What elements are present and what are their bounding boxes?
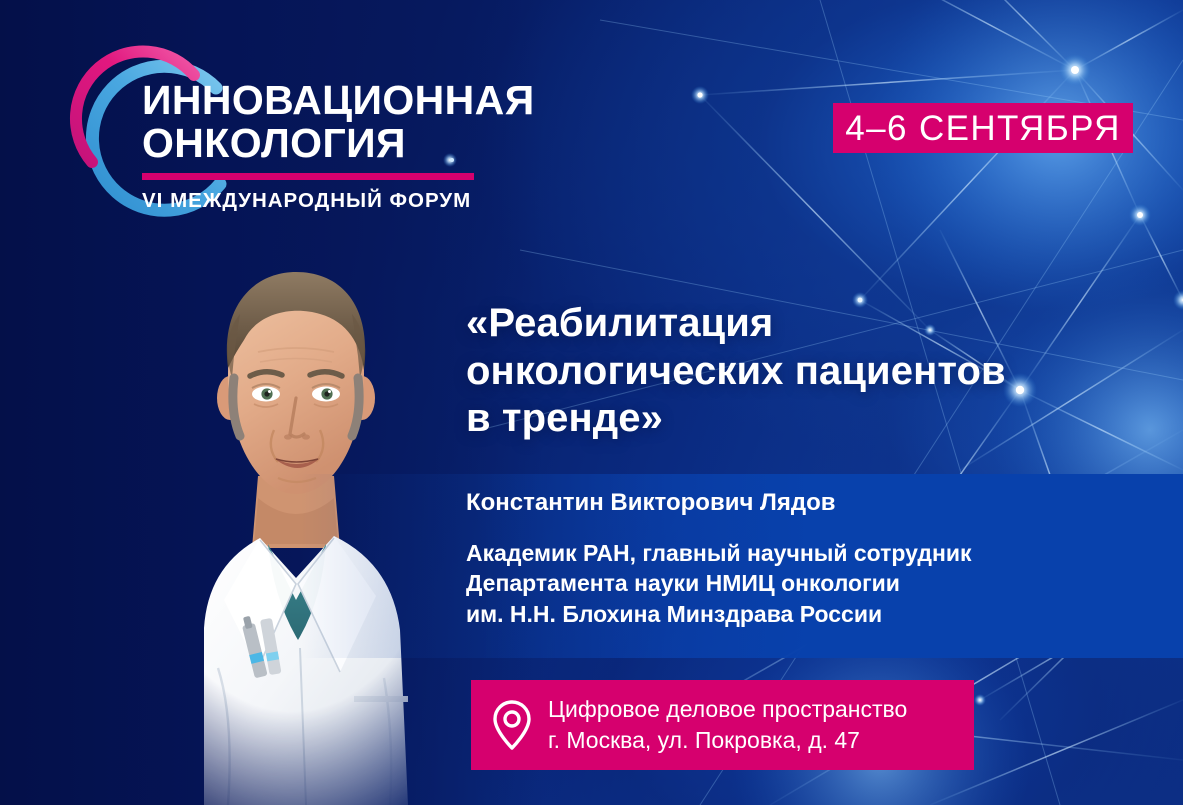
venue-bar: Цифровое деловое пространство г. Москва,…: [471, 680, 974, 770]
logo-divider-rule: [142, 173, 474, 180]
title-line-2: онкологических пациентов: [466, 348, 1126, 396]
presentation-title: «Реабилитация онкологических пациентов в…: [466, 300, 1126, 443]
speaker-role-line-1: Академик РАН, главный научный сотрудник: [466, 538, 1146, 569]
title-line-3: в тренде»: [466, 395, 1126, 443]
venue-address: Цифровое деловое пространство г. Москва,…: [548, 694, 907, 755]
event-promo-poster: ИННОВАЦИОННАЯ ОНКОЛОГИЯ VI МЕЖДУНАРОДНЫЙ…: [0, 0, 1183, 805]
event-date-text: 4–6 СЕНТЯБРЯ: [845, 111, 1121, 146]
speaker-role: Академик РАН, главный научный сотрудник …: [466, 538, 1146, 630]
venue-line-1: Цифровое деловое пространство: [548, 694, 907, 725]
logo-subtitle: VI МЕЖДУНАРОДНЫЙ ФОРУМ: [142, 189, 502, 213]
forum-logo: ИННОВАЦИОННАЯ ОНКОЛОГИЯ VI МЕЖДУНАРОДНЫЙ…: [58, 44, 498, 244]
venue-line-2: г. Москва, ул. Покровка, д. 47: [548, 725, 907, 756]
location-pin-icon: [492, 699, 532, 751]
speaker-role-line-3: им. Н.Н. Блохина Минздрава России: [466, 599, 1146, 630]
speaker-name: Константин Викторович Лядов: [466, 489, 1146, 518]
title-line-1: «Реабилитация: [466, 300, 1126, 348]
event-date-badge: 4–6 СЕНТЯБРЯ: [833, 103, 1133, 153]
speaker-details: Константин Викторович Лядов Академик РАН…: [466, 489, 1146, 630]
logo-line-2: ОНКОЛОГИЯ: [142, 123, 502, 164]
logo-line-1: ИННОВАЦИОННАЯ: [142, 80, 502, 121]
speaker-role-line-2: Департамента науки НМИЦ онкологии: [466, 568, 1146, 599]
